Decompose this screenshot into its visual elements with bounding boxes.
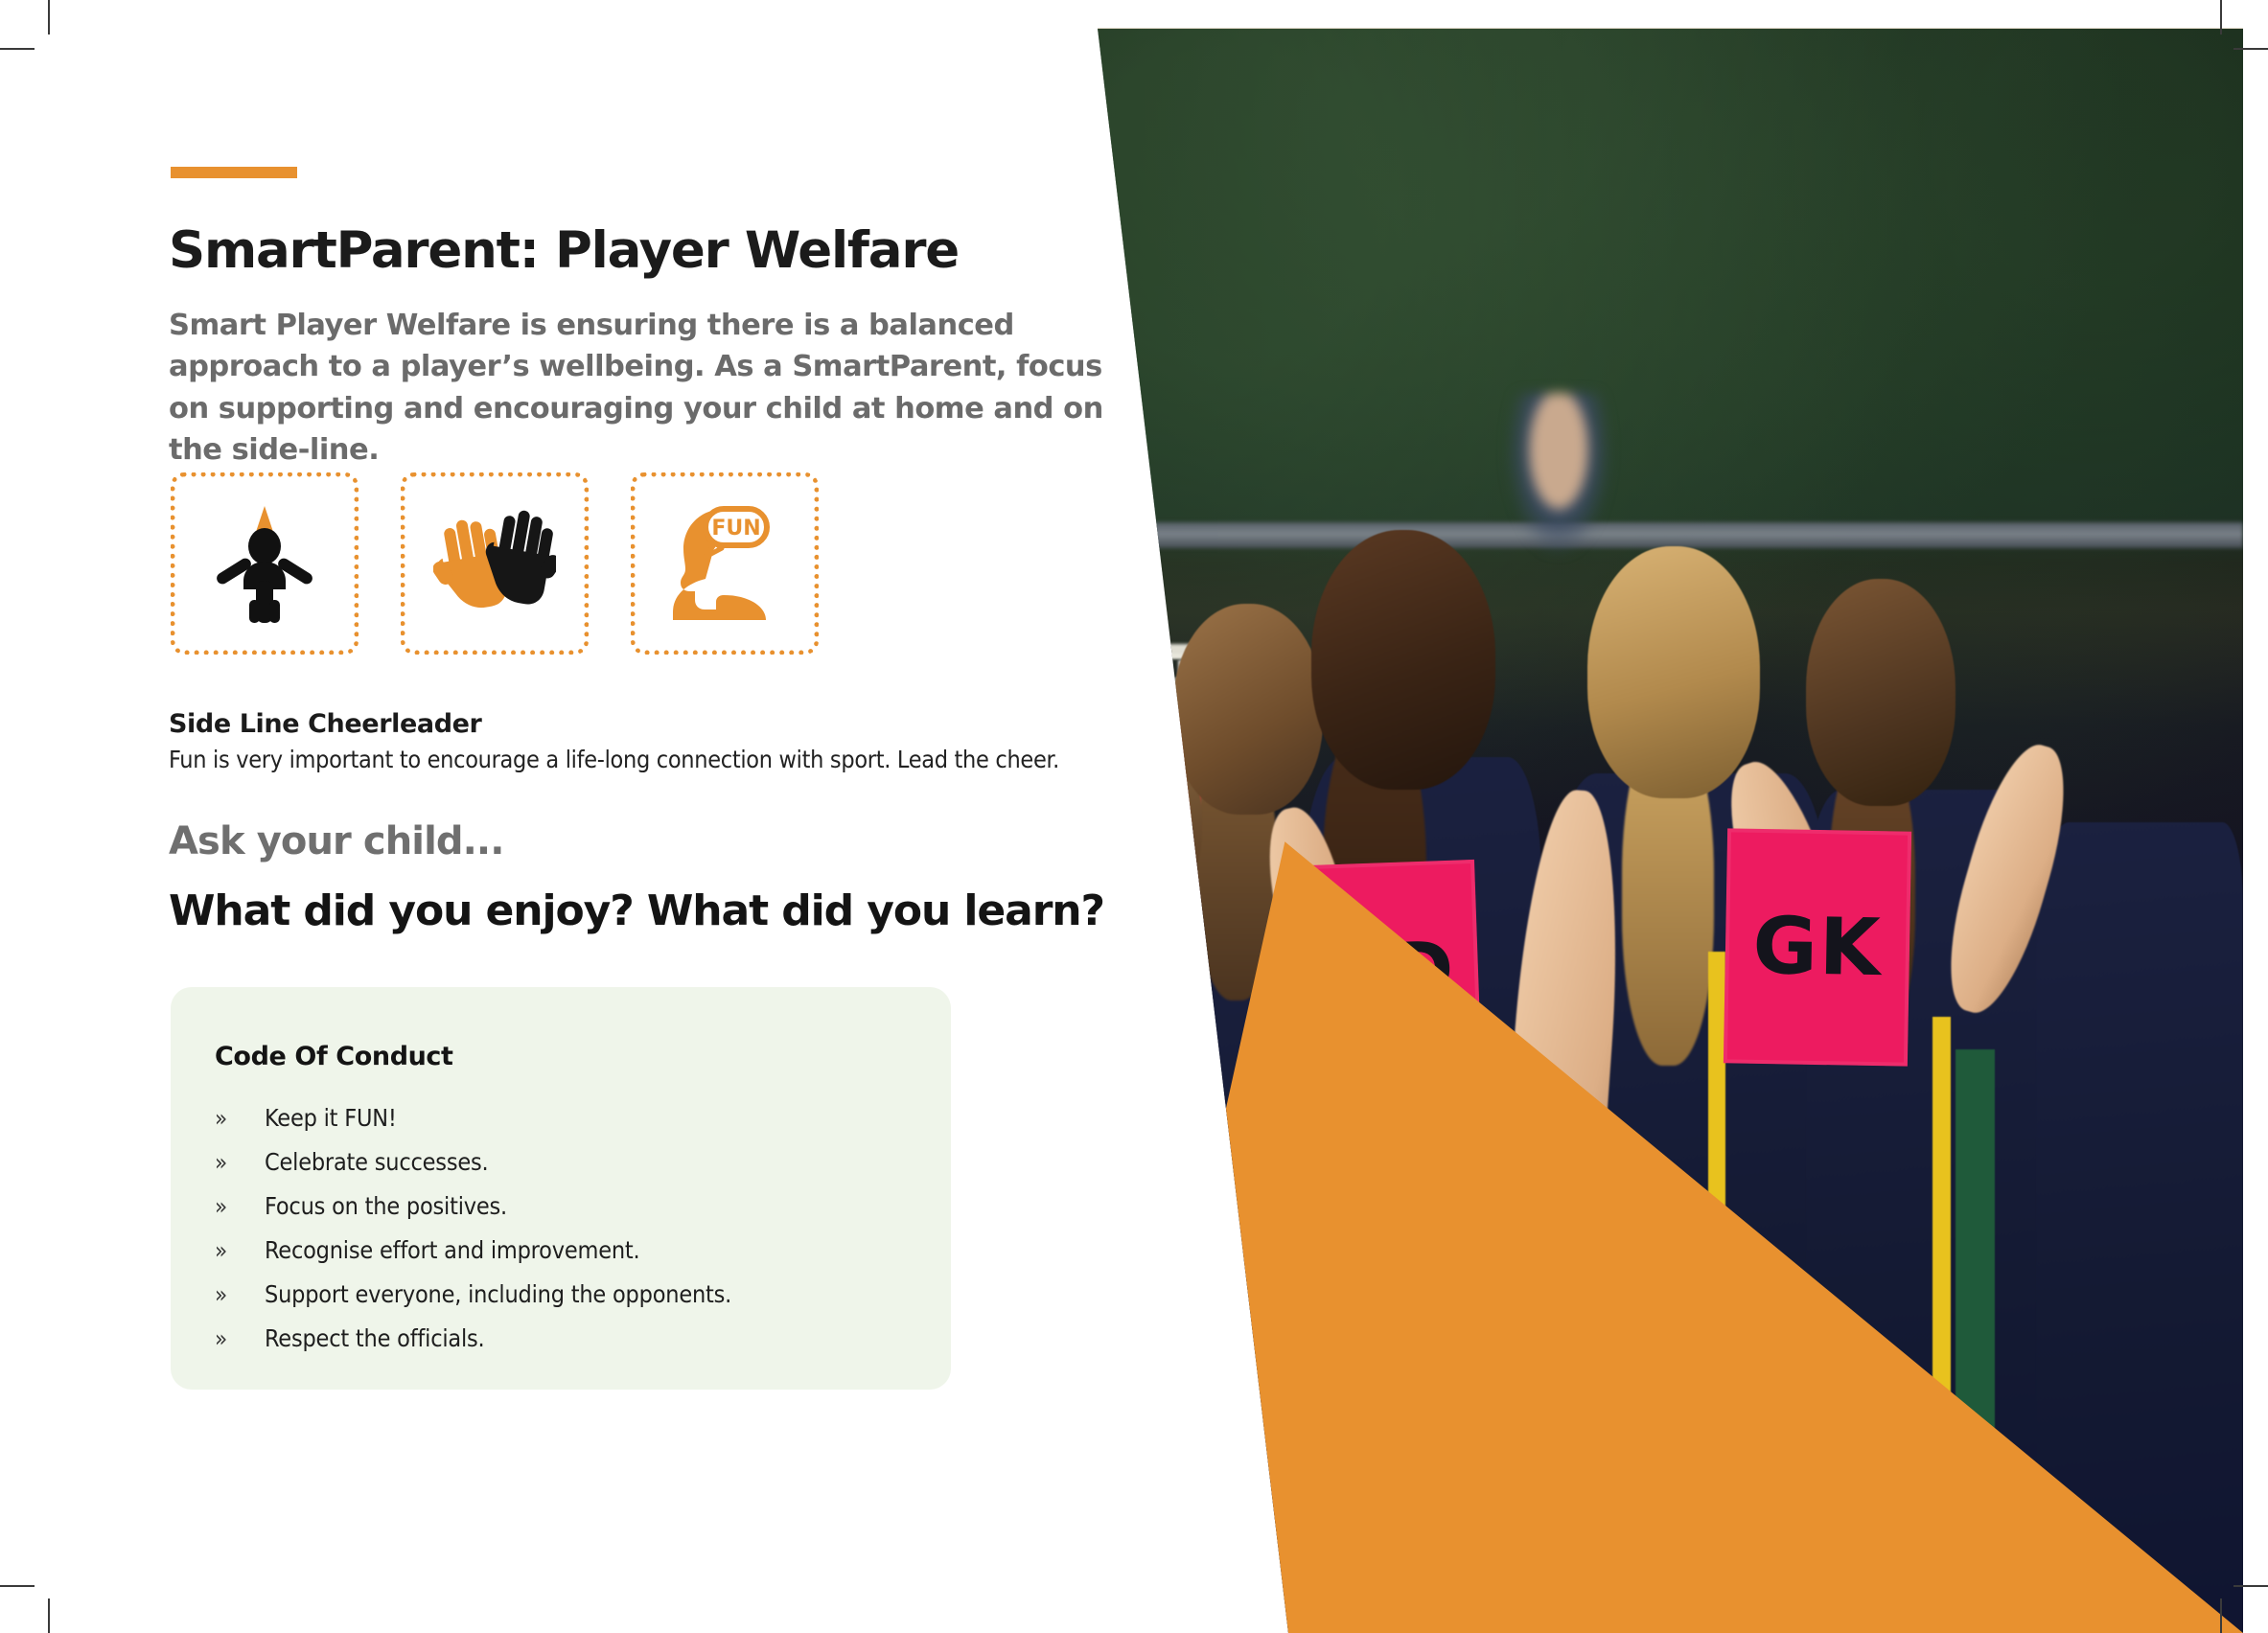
cheerleader-title: Side Line Cheerleader bbox=[169, 709, 481, 739]
list-item-label: Respect the officials. bbox=[265, 1324, 485, 1352]
player-head bbox=[1311, 530, 1495, 790]
crop-mark-top-right-vertical bbox=[2220, 0, 2222, 34]
list-item: » Respect the officials. bbox=[215, 1324, 914, 1368]
bullet-marker-icon: » bbox=[215, 1237, 265, 1264]
ask-your-child-question: What did you enjoy? What did you learn? bbox=[169, 886, 1127, 935]
code-of-conduct-panel: Code Of Conduct » Keep it FUN! » Celebra… bbox=[171, 987, 951, 1390]
list-item: » Focus on the positives. bbox=[215, 1192, 914, 1236]
crop-mark-bottom-right-vertical bbox=[2220, 1598, 2222, 1633]
icon-tile-fun-mindset[interactable]: FUN bbox=[631, 472, 819, 655]
crop-mark-top-right-horizontal bbox=[2233, 48, 2268, 50]
intro-paragraph: Smart Player Welfare is ensuring there i… bbox=[169, 305, 1118, 471]
list-item-label: Keep it FUN! bbox=[265, 1104, 397, 1132]
crop-mark-bottom-right-horizontal bbox=[2233, 1585, 2268, 1587]
list-item: » Celebrate successes. bbox=[215, 1148, 914, 1192]
netball-team-huddle-photo: GD GK bbox=[1093, 11, 2243, 1633]
icon-tile-celebrating-child[interactable] bbox=[171, 472, 359, 655]
bullet-marker-icon: » bbox=[215, 1281, 265, 1308]
list-item-label: Recognise effort and improvement. bbox=[265, 1236, 639, 1264]
celebrating-child-icon bbox=[213, 504, 316, 623]
content-column: SmartParent: Player Welfare Smart Player… bbox=[0, 0, 1112, 1633]
player-head bbox=[1587, 546, 1760, 797]
list-item-label: Celebrate successes. bbox=[265, 1148, 488, 1176]
list-item: » Recognise effort and improvement. bbox=[215, 1236, 914, 1280]
player-head bbox=[1806, 579, 1956, 806]
icon-tile-group: FUN bbox=[171, 472, 819, 655]
accent-rule bbox=[171, 167, 297, 178]
code-of-conduct-title: Code Of Conduct bbox=[215, 1042, 453, 1071]
bullet-marker-icon: » bbox=[215, 1149, 265, 1176]
ask-your-child-kicker: Ask your child... bbox=[169, 819, 504, 863]
code-of-conduct-list: » Keep it FUN! » Celebrate successes. » … bbox=[215, 1104, 914, 1368]
bullet-marker-icon: » bbox=[215, 1325, 265, 1352]
icon-tile-high-five[interactable] bbox=[401, 472, 589, 655]
list-item-label: Focus on the positives. bbox=[265, 1192, 507, 1220]
photo-top-accent-bar bbox=[1093, 11, 2243, 29]
list-item: » Support everyone, including the oppone… bbox=[215, 1280, 914, 1324]
page-title: SmartParent: Player Welfare bbox=[169, 224, 1031, 278]
fun-mindset-head-icon: FUN bbox=[665, 505, 784, 622]
list-item: » Keep it FUN! bbox=[215, 1104, 914, 1148]
bullet-marker-icon: » bbox=[215, 1193, 265, 1220]
court-fence-rail bbox=[1093, 522, 2243, 548]
list-item-label: Support everyone, including the opponent… bbox=[265, 1280, 731, 1308]
bullet-marker-icon: » bbox=[215, 1105, 265, 1132]
background-spectator bbox=[1507, 393, 1610, 555]
high-five-hands-icon bbox=[433, 506, 556, 621]
position-bib-gk: GK bbox=[1724, 829, 1911, 1068]
cheerleader-body: Fun is very important to encourage a lif… bbox=[169, 746, 1108, 773]
player-head bbox=[1173, 604, 1323, 815]
svg-text:FUN: FUN bbox=[711, 517, 760, 540]
